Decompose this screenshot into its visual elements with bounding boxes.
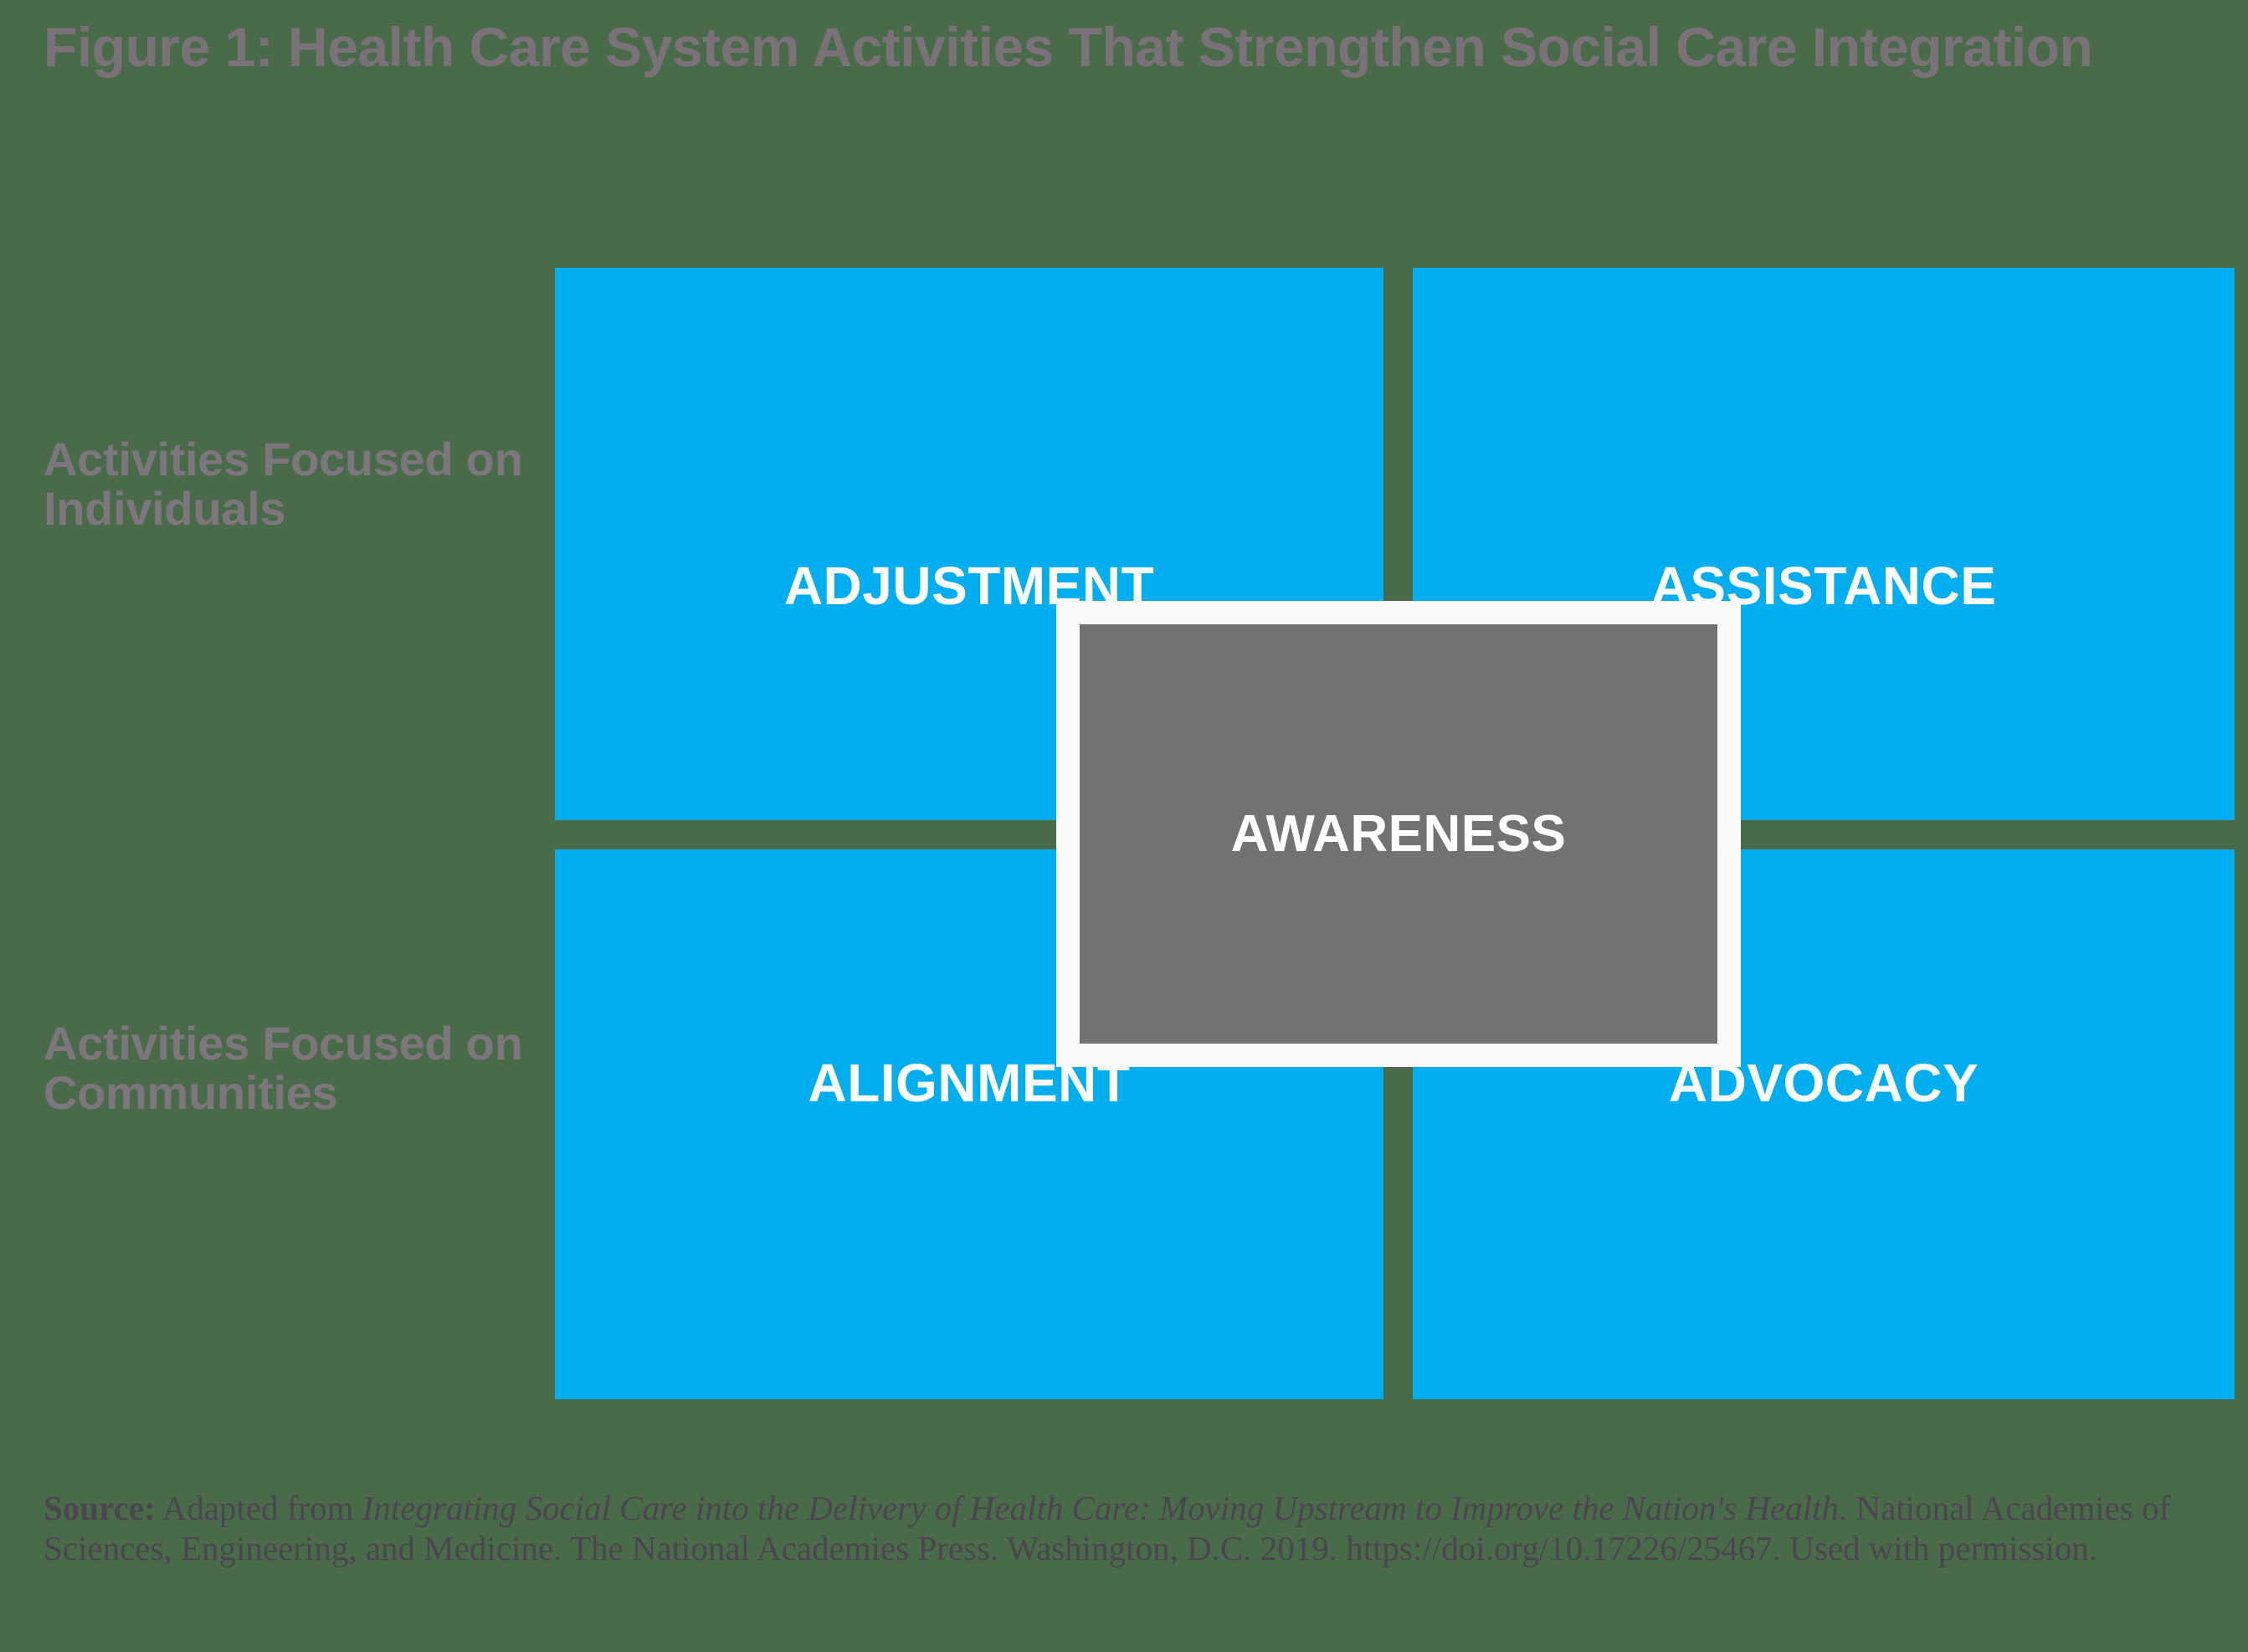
- figure-title: Figure 1: Health Care System Activities …: [44, 15, 2136, 80]
- awareness-label: AWARENESS: [1231, 804, 1567, 864]
- awareness-frame: AWARENESS: [1056, 601, 1741, 1067]
- source-lead: Adapted from: [162, 1489, 354, 1527]
- figure-container: Figure 1: Health Care System Activities …: [0, 0, 2248, 1652]
- row-label-individuals: Activities Focused on Individuals: [44, 435, 546, 534]
- source-note: Source: Adapted from Integrating Social …: [44, 1488, 2186, 1569]
- source-publication-title: Integrating Social Care into the Deliver…: [362, 1489, 1839, 1527]
- source-prefix: Source:: [44, 1489, 156, 1527]
- awareness-node: AWARENESS: [1080, 624, 1717, 1044]
- row-label-communities: Activities Focused on Communities: [44, 1019, 546, 1118]
